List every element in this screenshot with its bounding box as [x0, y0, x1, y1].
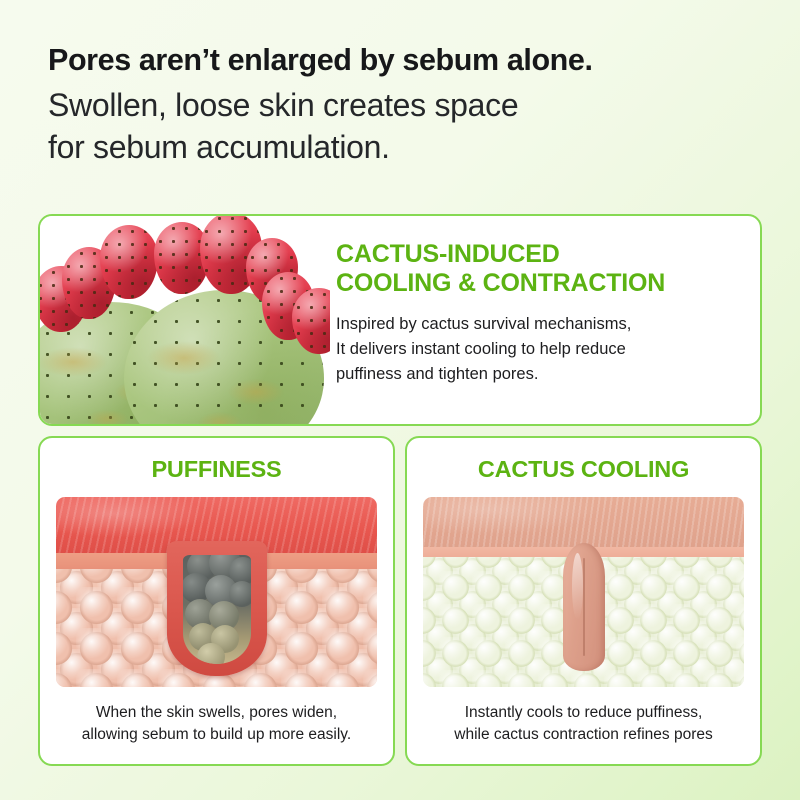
panel-cactus-cooling-caption-line-2: while cactus contraction refines pores [417, 724, 750, 746]
cactus-feature-body: Inspired by cactus survival mechanisms, … [336, 312, 742, 387]
panel-puffiness: PUFFINESS [38, 436, 395, 766]
cactus-feature-card: CACTUS-INDUCED COOLING & CONTRACTION Ins… [38, 214, 762, 426]
panel-puffiness-title: PUFFINESS [40, 456, 393, 483]
epidermis-layer [423, 497, 744, 547]
panel-puffiness-caption-line-1: When the skin swells, pores widen, [50, 702, 383, 724]
pore-cavity [183, 555, 251, 664]
infographic-poster: Pores aren’t enlarged by sebum alone. Sw… [0, 0, 800, 800]
headline-block: Pores aren’t enlarged by sebum alone. Sw… [48, 42, 758, 168]
pore-highlight [572, 553, 583, 620]
page-subtitle-line-2: for sebum accumulation. [48, 126, 758, 168]
page-subtitle-line-1: Swollen, loose skin creates space [48, 84, 758, 126]
page-subtitle: Swollen, loose skin creates space for se… [48, 84, 758, 168]
panel-cactus-cooling-caption: Instantly cools to reduce puffiness, whi… [417, 702, 750, 746]
panel-cactus-cooling-caption-line-1: Instantly cools to reduce puffiness, [417, 702, 750, 724]
open-pore [167, 541, 267, 676]
cactus-feature-title-line-2: COOLING & CONTRACTION [336, 269, 742, 298]
cactus-feature-body-line-1: Inspired by cactus survival mechanisms, [336, 312, 742, 337]
panel-cactus-cooling: CACTUS COOLING Instantly cools to reduce… [405, 436, 762, 766]
cactus-feature-title-line-1: CACTUS-INDUCED [336, 240, 742, 269]
page-title: Pores aren’t enlarged by sebum alone. [48, 42, 758, 78]
cactus-feature-body-line-3: puffiness and tighten pores. [336, 362, 742, 387]
cooled-skin-illustration [423, 497, 744, 687]
cactus-fruit-spines-icon [100, 225, 158, 299]
cactus-fruit [100, 225, 158, 299]
cactus-feature-title: CACTUS-INDUCED COOLING & CONTRACTION [336, 240, 742, 298]
panel-puffiness-caption: When the skin swells, pores widen, allow… [50, 702, 383, 746]
cactus-photo [40, 216, 330, 424]
swollen-skin-illustration [56, 497, 377, 687]
cactus-feature-text: CACTUS-INDUCED COOLING & CONTRACTION Ins… [330, 216, 760, 424]
sebum-cluster-node [197, 643, 225, 664]
panel-cactus-cooling-title: CACTUS COOLING [407, 456, 760, 483]
panel-puffiness-caption-line-2: allowing sebum to build up more easily. [50, 724, 383, 746]
contracted-pore [563, 543, 605, 671]
cactus-feature-body-line-2: It delivers instant cooling to help redu… [336, 337, 742, 362]
